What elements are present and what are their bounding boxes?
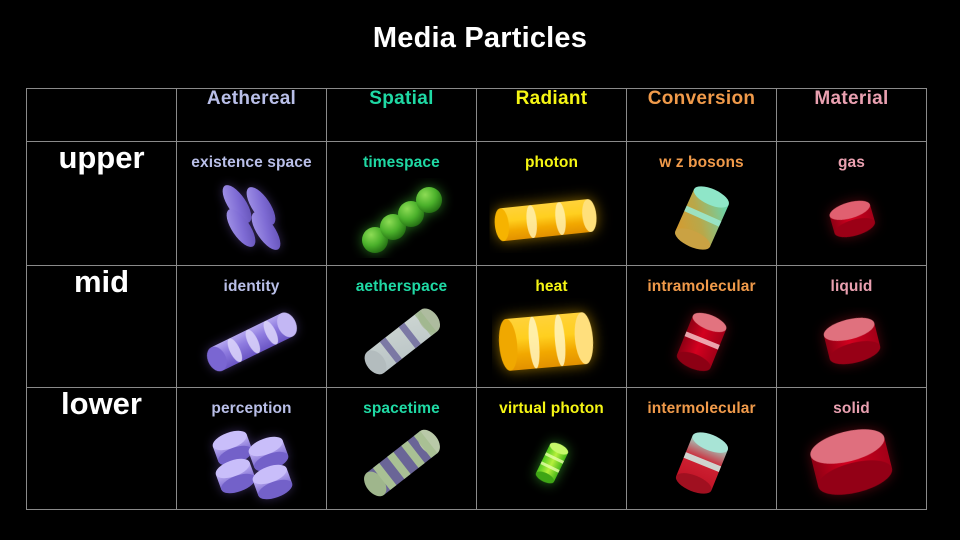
cell-upper-spatial: timespace — [327, 142, 477, 266]
cell-label: identity — [224, 279, 280, 295]
cell-lower-spatial: spacetime — [327, 388, 477, 510]
cell-lower-conversion: intermolecular — [627, 388, 777, 510]
particle-art-small-green-cylinder — [477, 417, 626, 510]
particle-art-teal-orange-cylinder — [627, 171, 776, 266]
particle-art-red-teal-cylinder — [627, 417, 776, 510]
cell-label: gas — [838, 155, 865, 171]
particle-art-medium-red-disc — [777, 295, 926, 388]
column-header-label: Aethereal — [177, 89, 326, 108]
cell-label: existence space — [191, 155, 311, 171]
cell-label: spacetime — [363, 401, 440, 417]
particle-art-wide-gold-cylinder — [477, 295, 626, 388]
row-header-lower: lower — [27, 388, 177, 510]
particle-art-purple-bead-chain — [177, 295, 326, 388]
column-header-aethereal: Aethereal — [177, 89, 327, 142]
cell-label: virtual photon — [499, 401, 604, 417]
column-head-label: Material — [777, 89, 926, 108]
particle-art-four-purple-ellipsoids — [177, 171, 326, 266]
cell-mid-material: liquid — [777, 266, 927, 388]
cell-mid-radiant: heat — [477, 266, 627, 388]
cell-upper-material: gas — [777, 142, 927, 266]
table-corner-cell — [27, 89, 177, 142]
cell-label: solid — [833, 401, 870, 417]
particle-art-four-green-spheres — [327, 171, 476, 266]
table-row: lower perception — [27, 388, 927, 510]
cell-mid-spatial: aetherspace — [327, 266, 477, 388]
cell-label: aetherspace — [356, 279, 448, 295]
column-header-label: Spatial — [327, 89, 476, 108]
cell-lower-aethereal: perception — [177, 388, 327, 510]
cell-label: intermolecular — [647, 401, 755, 417]
table-row: mid identity — [27, 266, 927, 388]
cell-label: photon — [525, 155, 578, 171]
column-header-radiant: Radiant — [477, 89, 627, 142]
cell-label: heat — [535, 279, 567, 295]
cell-label: intramolecular — [647, 279, 755, 295]
table-row: upper existence space — [27, 142, 927, 266]
cell-lower-radiant: virtual photon — [477, 388, 627, 510]
cell-mid-conversion: intramolecular — [627, 266, 777, 388]
column-header-material: Material — [777, 89, 927, 142]
row-label: upper — [27, 142, 176, 173]
row-label: lower — [27, 388, 176, 419]
cell-label: liquid — [831, 279, 873, 295]
row-header-mid: mid — [27, 266, 177, 388]
cell-label: timespace — [363, 155, 440, 171]
particle-art-small-red-disc — [777, 171, 926, 266]
column-header-spatial: Spatial — [327, 89, 477, 142]
particle-art-long-gold-cylinder — [477, 171, 626, 266]
cell-mid-aethereal: identity — [177, 266, 327, 388]
column-header-conversion: Conversion — [627, 89, 777, 142]
cell-lower-material: solid — [777, 388, 927, 510]
cell-upper-conversion: w z bosons — [627, 142, 777, 266]
column-header-label: Conversion — [627, 89, 776, 108]
column-header-label: Radiant — [477, 89, 626, 108]
page-title: Media Particles — [0, 22, 960, 55]
row-header-upper: upper — [27, 142, 177, 266]
particle-art-green-grey-stack — [327, 417, 476, 510]
table-header-row: Aethereal Spatial Radiant Conversion Mat… — [27, 89, 927, 142]
media-particles-table: Aethereal Spatial Radiant Conversion Mat… — [26, 88, 927, 510]
row-label: mid — [27, 266, 176, 297]
cell-label: w z bosons — [659, 155, 744, 171]
particle-art-large-red-disc — [777, 417, 926, 510]
particle-art-red-banded-cylinder — [627, 295, 776, 388]
cell-upper-aethereal: existence space — [177, 142, 327, 266]
particle-art-four-purple-discs — [177, 417, 326, 510]
cell-upper-radiant: photon — [477, 142, 627, 266]
cell-label: perception — [211, 401, 291, 417]
particle-art-grey-green-bead-chain — [327, 295, 476, 388]
